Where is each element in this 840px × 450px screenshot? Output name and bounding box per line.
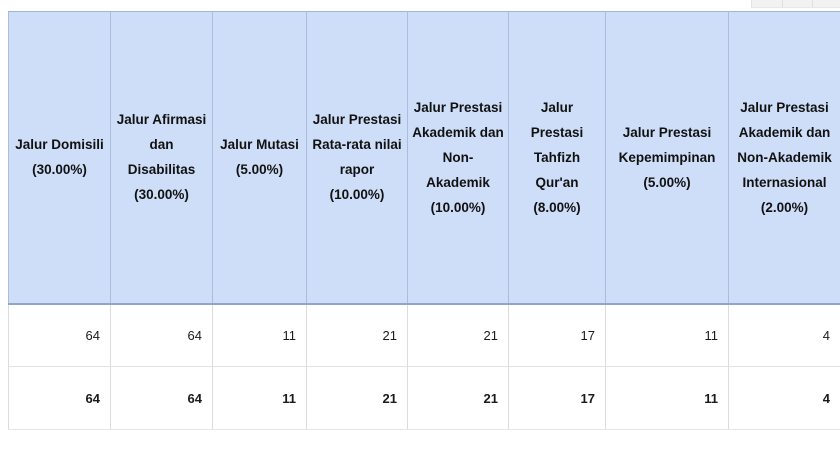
cell-total-jalur-domisili: 64 [9, 367, 111, 430]
cell-kuota-jalur-prestasi-kepemimpinan: 11 [606, 304, 729, 367]
clipped-toolbar-artifact [751, 0, 840, 8]
cell-total-jalur-prestasi-tahfizh: 17 [509, 367, 606, 430]
column-header-jalur-prestasi-rapor[interactable]: Jalur Prestasi Rata-rata nilai rapor (10… [307, 12, 408, 304]
column-header-jalur-prestasi-tahfizh[interactable]: Jalur Prestasi Tahfizh Qur'an (8.00%) [509, 12, 606, 304]
table-body: 64 64 11 21 21 17 11 4 64 64 11 21 21 17… [9, 304, 840, 430]
jalur-quota-table: Jalur Domisili (30.00%) Jalur Afirmasi d… [8, 11, 840, 430]
column-header-jalur-prestasi-internasional[interactable]: Jalur Prestasi Akademik dan Non-Akademik… [729, 12, 840, 304]
toolbar-divider-2 [812, 0, 813, 7]
cell-kuota-jalur-mutasi: 11 [213, 304, 307, 367]
cell-total-jalur-afirmasi-disabilitas: 64 [111, 367, 213, 430]
column-header-jalur-prestasi-akademik-nonakademik[interactable]: Jalur Prestasi Akademik dan Non-Akademik… [408, 12, 509, 304]
table-header: Jalur Domisili (30.00%) Jalur Afirmasi d… [9, 12, 840, 304]
header-row: Jalur Domisili (30.00%) Jalur Afirmasi d… [9, 12, 840, 304]
cell-total-jalur-prestasi-rapor: 21 [307, 367, 408, 430]
page-root: Jalur Domisili (30.00%) Jalur Afirmasi d… [0, 0, 840, 450]
column-header-jalur-prestasi-kepemimpinan[interactable]: Jalur Prestasi Kepemimpinan (5.00%) [606, 12, 729, 304]
cell-kuota-jalur-prestasi-tahfizh: 17 [509, 304, 606, 367]
cell-kuota-jalur-prestasi-internasional: 4 [729, 304, 840, 367]
cell-total-jalur-mutasi: 11 [213, 367, 307, 430]
table-row: 64 64 11 21 21 17 11 4 [9, 367, 840, 430]
cell-kuota-jalur-prestasi-rapor: 21 [307, 304, 408, 367]
cell-total-jalur-prestasi-internasional: 4 [729, 367, 840, 430]
table-container: Jalur Domisili (30.00%) Jalur Afirmasi d… [8, 11, 840, 430]
column-header-jalur-afirmasi-disabilitas[interactable]: Jalur Afirmasi dan Disabilitas (30.00%) [111, 12, 213, 304]
cell-kuota-jalur-domisili: 64 [9, 304, 111, 367]
cell-total-jalur-prestasi-akademik-nonakademik: 21 [408, 367, 509, 430]
toolbar-divider-1 [782, 0, 783, 7]
table-row: 64 64 11 21 21 17 11 4 [9, 304, 840, 367]
cell-kuota-jalur-prestasi-akademik-nonakademik: 21 [408, 304, 509, 367]
column-header-jalur-mutasi[interactable]: Jalur Mutasi (5.00%) [213, 12, 307, 304]
cell-total-jalur-prestasi-kepemimpinan: 11 [606, 367, 729, 430]
cell-kuota-jalur-afirmasi-disabilitas: 64 [111, 304, 213, 367]
column-header-jalur-domisili[interactable]: Jalur Domisili (30.00%) [9, 12, 111, 304]
